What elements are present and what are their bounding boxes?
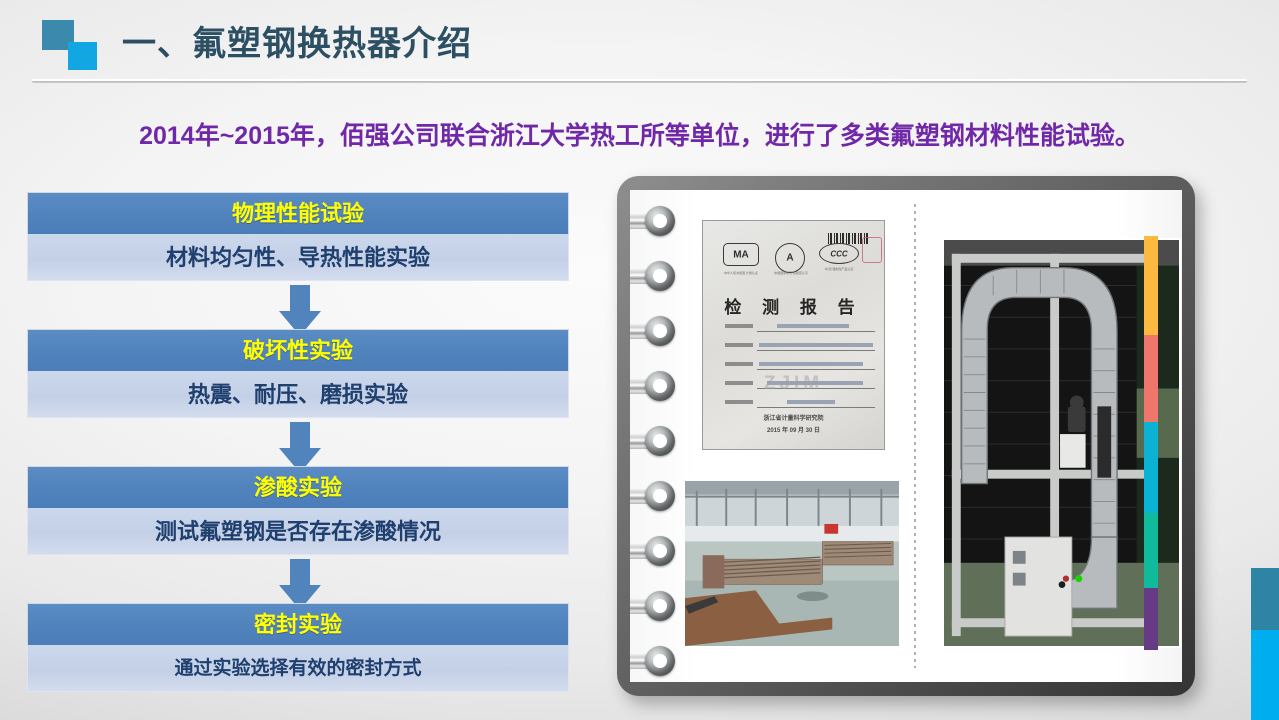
color-seg-salmon — [1144, 335, 1158, 422]
accent-square-blue — [1251, 630, 1279, 720]
accent-square-teal — [1251, 568, 1279, 630]
flow-step-1-desc: 材料均匀性、导热性能实验 — [27, 234, 569, 281]
page-title: 一、氟塑钢换热器介绍 — [122, 16, 472, 65]
flow-step-4[interactable]: 密封实验 通过实验选择有效的密封方式 — [27, 603, 569, 692]
spiral-binder-rings — [630, 190, 679, 682]
spiral-binder-ring-icon — [630, 646, 679, 676]
logo-square-bright — [68, 42, 97, 70]
two-squares-logo-icon — [42, 20, 100, 72]
color-seg-purple — [1144, 588, 1158, 650]
experiment-flow-diagram: 物理性能试验 材料均匀性、导热性能实验 破坏性实验 热震、耐压、磨损实验 渗酸实… — [27, 192, 569, 692]
flow-step-2-title: 破坏性实验 — [27, 329, 569, 371]
a-certification-mark-icon: A — [775, 243, 805, 273]
dotted-divider-icon — [914, 204, 916, 668]
factory-tube-bundle-photo[interactable] — [683, 479, 901, 648]
color-bar-strip — [1144, 236, 1158, 650]
red-stamp-icon — [862, 237, 882, 263]
document-watermark: ZJIM — [703, 373, 884, 395]
mark-label-ccc: CCC — [820, 249, 858, 258]
ccc-certification-mark-icon: CCC — [819, 243, 859, 264]
flow-step-3-title: 渗酸实验 — [27, 466, 569, 508]
mark-label-ma: MA — [724, 249, 758, 260]
color-seg-cyan — [1144, 422, 1158, 513]
document-title: 检 测 报 告 — [703, 293, 884, 318]
spiral-binder-ring-icon — [630, 481, 679, 511]
test-report-document[interactable]: MA A CCC 中华人民共和国 计量认证 中国国家认可 实验室认可 中 国 强… — [702, 220, 885, 450]
header-divider — [32, 79, 1247, 83]
flow-step-2-desc: 热震、耐压、磨损实验 — [27, 371, 569, 418]
notebook-page: MA A CCC 中华人民共和国 计量认证 中国国家认可 实验室认可 中 国 强… — [630, 190, 1182, 682]
mark-label-a: A — [776, 253, 804, 264]
color-seg-teal — [1144, 513, 1158, 588]
document-issuer: 浙江省计量科学研究院 — [703, 413, 884, 422]
flow-step-3-desc: 测试氟塑钢是否存在渗酸情况 — [27, 508, 569, 555]
flow-step-4-title: 密封实验 — [27, 603, 569, 645]
flow-step-4-desc: 通过实验选择有效的密封方式 — [27, 645, 569, 692]
color-seg-orange — [1144, 236, 1158, 335]
notebook-photo-panel: MA A CCC 中华人民共和国 计量认证 中国国家认可 实验室认可 中 国 强… — [617, 176, 1195, 696]
flow-step-3[interactable]: 渗酸实验 测试氟塑钢是否存在渗酸情况 — [27, 466, 569, 555]
document-date: 2015 年 09 月 30 日 — [703, 425, 884, 434]
spiral-binder-ring-icon — [630, 536, 679, 566]
flow-step-2[interactable]: 破坏性实验 热震、耐压、磨损实验 — [27, 329, 569, 418]
slide-header: 一、氟塑钢换热器介绍 — [0, 0, 1279, 92]
ma-certification-mark-icon: MA — [723, 243, 759, 266]
spiral-binder-ring-icon — [630, 591, 679, 621]
spiral-binder-ring-icon — [630, 316, 679, 346]
subtitle-text: 2014年~2015年，佰强公司联合浙江大学热工所等单位，进行了多类氟塑钢材料性… — [0, 116, 1279, 152]
flow-step-1-title: 物理性能试验 — [27, 192, 569, 234]
spiral-binder-ring-icon — [630, 206, 679, 236]
corner-accent-icon — [1251, 568, 1279, 720]
spiral-binder-ring-icon — [630, 371, 679, 401]
flow-step-1[interactable]: 物理性能试验 材料均匀性、导热性能实验 — [27, 192, 569, 281]
spiral-binder-ring-icon — [630, 426, 679, 456]
spiral-binder-ring-icon — [630, 261, 679, 291]
